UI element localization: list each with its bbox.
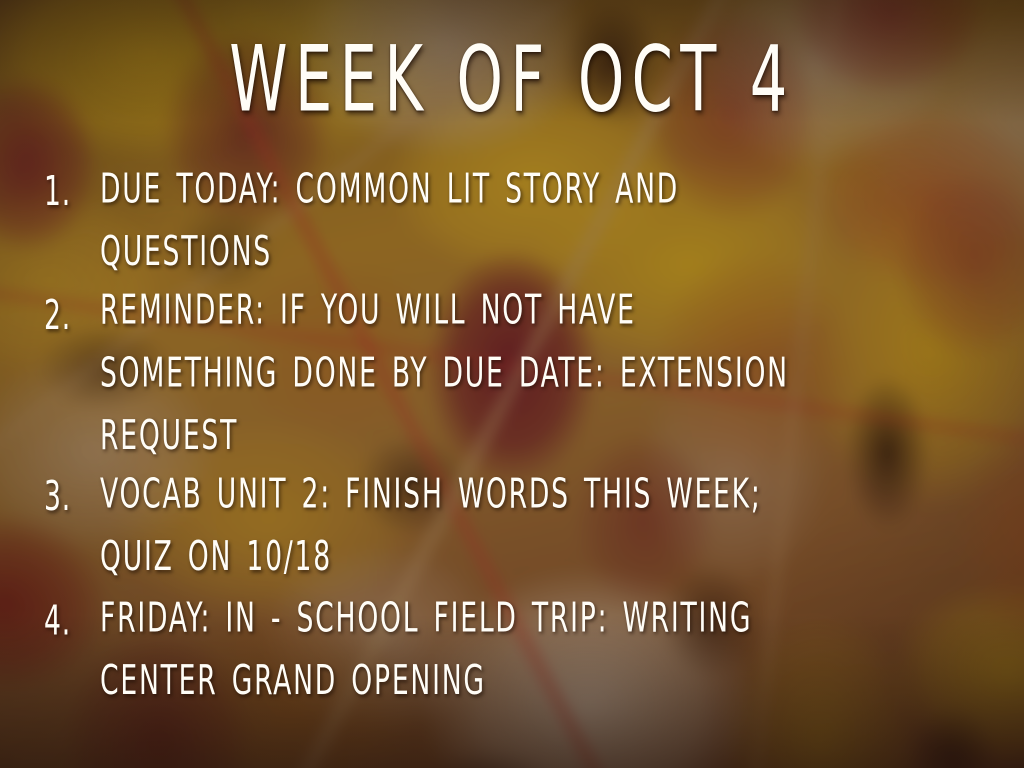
list-item: 3. VOCAB UNIT 2: FINISH WORDS THIS WEEK;… <box>44 468 990 582</box>
list-item-text: REMINDER: IF YOU WILL NOT HAVE SOMETHING… <box>100 278 812 466</box>
list-item: 4. FRIDAY: IN - SCHOOL FIELD TRIP: WRITI… <box>44 592 990 706</box>
list-item-number: 4. <box>44 589 89 652</box>
list-item: 1. DUE TODAY: COMMON LIT STORY AND QUEST… <box>44 163 990 277</box>
list-item-text: DUE TODAY: COMMON LIT STORY AND QUESTION… <box>100 157 812 282</box>
slide-title: WEEK OF OCT 4 <box>92 34 932 125</box>
list-item-number: 3. <box>44 465 89 528</box>
slide-content: WEEK OF OCT 4 1. DUE TODAY: COMMON LIT S… <box>0 0 1024 768</box>
list-item: 2. REMINDER: IF YOU WILL NOT HAVE SOMETH… <box>44 287 990 458</box>
list-item-text: VOCAB UNIT 2: FINISH WORDS THIS WEEK; QU… <box>100 462 812 587</box>
agenda-list: 1. DUE TODAY: COMMON LIT STORY AND QUEST… <box>44 163 990 716</box>
list-item-text: FRIDAY: IN - SCHOOL FIELD TRIP: WRITING … <box>100 586 812 711</box>
list-item-number: 2. <box>44 284 89 347</box>
presentation-slide: WEEK OF OCT 4 1. DUE TODAY: COMMON LIT S… <box>0 0 1024 768</box>
list-item-number: 1. <box>44 160 89 223</box>
